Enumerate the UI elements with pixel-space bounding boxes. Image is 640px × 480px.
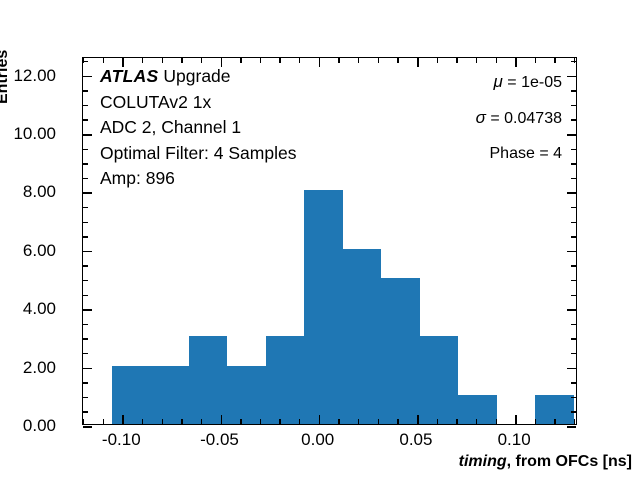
sigma-symbol: σ [476,108,486,127]
tick-mark [83,192,92,194]
tick-mark [83,338,88,339]
annotation-line-1: ATLAS Upgrade [100,64,296,90]
tick-mark [162,58,163,63]
histogram-bar [420,336,459,424]
tick-mark [535,419,536,424]
histogram-bar [304,190,343,424]
stat-phase: Phase = 4 [300,136,562,171]
tick-mark [83,236,88,237]
tick-mark [260,419,261,424]
annotation-line-2: COLUTAv2 1x [100,90,296,116]
tick-mark [83,397,88,398]
tick-mark [358,419,359,424]
tick-mark [83,149,88,150]
tick-mark [83,163,88,164]
histogram-bar [266,336,305,424]
tick-mark [181,419,182,424]
tick-mark [83,105,88,106]
tick-mark [496,58,497,63]
tick-mark [571,149,576,150]
tick-mark [83,324,88,325]
tick-mark [571,338,576,339]
annotation-line-5: Amp: 896 [100,166,296,192]
tick-mark [476,58,477,63]
x-tick-label: 0.10 [474,430,554,450]
histogram-bar [381,278,420,424]
tick-mark [571,411,576,412]
tick-mark [83,309,92,311]
tick-mark [567,192,576,194]
stat-sigma: σ = 0.04738 [300,100,562,136]
tick-mark [571,222,576,223]
y-tick-label: 0.00 [0,416,56,436]
tick-mark [456,419,457,424]
y-tick-label: 8.00 [0,182,56,202]
tick-mark [240,58,241,63]
histogram-bar [112,366,151,424]
tick-mark [83,295,88,296]
histogram-bar [150,366,189,424]
tick-mark [571,236,576,237]
tick-mark [571,324,576,325]
tick-mark [83,280,88,281]
tick-mark [571,295,576,296]
annotation-line-4: Optimal Filter: 4 Samples [100,141,296,167]
tick-mark [571,119,576,120]
y-tick-label: 10.00 [0,124,56,144]
tick-mark [567,76,576,78]
tick-mark [83,222,88,223]
stats-block: μ = 1e-05 σ = 0.04738 Phase = 4 [300,64,562,171]
tick-mark [571,382,576,383]
tick-mark [571,397,576,398]
tick-mark [240,419,241,424]
tick-mark [299,419,300,424]
sigma-value: = 0.04738 [486,110,562,127]
tick-mark [142,58,143,63]
x-axis-title-rest: , from OFCs [ns] [507,453,632,470]
tick-mark [83,265,88,266]
tick-mark [142,419,143,424]
tick-mark [260,58,261,63]
mu-value: = 1e-05 [503,74,562,91]
tick-mark [299,58,300,63]
tick-mark [567,251,576,253]
tick-mark [181,58,182,63]
histogram-bar [458,395,497,424]
tick-mark [122,415,124,424]
tick-mark [567,309,576,311]
tick-mark [397,419,398,424]
tick-mark [567,426,576,428]
tick-mark [103,58,104,63]
tick-mark [571,105,576,106]
tick-mark [162,419,163,424]
tick-mark [456,58,457,63]
tick-mark [567,368,576,370]
x-tick-label: -0.05 [180,430,260,450]
tick-mark [574,58,575,63]
tick-mark [83,382,88,383]
tick-mark [201,419,202,424]
tick-mark [83,134,92,136]
y-tick-label: 4.00 [0,299,56,319]
tick-mark [221,415,223,424]
tick-mark [83,368,92,370]
tick-mark [437,58,438,63]
y-tick-label: 6.00 [0,241,56,261]
tick-mark [535,58,536,63]
atlas-label: ATLAS [100,66,159,86]
x-tick-label: 0.05 [376,430,456,450]
tick-mark [83,251,92,253]
tick-mark [554,58,555,63]
tick-mark [338,419,339,424]
x-axis-title: timing, from OFCs [ns] [0,453,632,471]
tick-mark [476,419,477,424]
tick-mark [83,178,88,179]
tick-mark [83,207,88,208]
tick-mark [338,58,339,63]
upgrade-label: Upgrade [159,66,231,86]
tick-mark [83,419,84,424]
tick-mark [83,58,84,63]
tick-mark [103,419,104,424]
tick-mark [83,353,88,354]
histogram-bar [343,249,382,424]
tick-mark [571,280,576,281]
tick-mark [574,419,575,424]
stat-mu: μ = 1e-05 [300,64,562,100]
tick-mark [279,58,280,63]
tick-mark [279,419,280,424]
tick-mark [397,58,398,63]
tick-mark [201,58,202,63]
tick-mark [496,419,497,424]
tick-mark [571,163,576,164]
annotation-line-3: ADC 2, Channel 1 [100,115,296,141]
tick-mark [571,178,576,179]
x-tick-label: -0.10 [81,430,161,450]
tick-mark [571,353,576,354]
annotation-block: ATLAS Upgrade COLUTAv2 1x ADC 2, Channel… [100,64,296,192]
chart-page: Entries timing, from OFCs [ns] 0.002.004… [0,0,640,480]
tick-mark [83,426,92,428]
tick-mark [83,76,92,78]
x-tick-label: 0.00 [278,430,358,450]
tick-mark [83,411,88,412]
histogram-bar [227,366,266,424]
tick-mark [571,207,576,208]
tick-mark [515,415,517,424]
tick-mark [378,58,379,63]
tick-mark [378,419,379,424]
mu-symbol: μ [494,72,503,91]
tick-mark [571,90,576,91]
y-tick-label: 12.00 [0,66,56,86]
tick-mark [571,265,576,266]
tick-mark [358,58,359,63]
y-tick-label: 2.00 [0,358,56,378]
x-axis-title-italic: timing [459,453,507,470]
histogram-bar [189,336,228,424]
tick-mark [567,134,576,136]
tick-mark [554,419,555,424]
tick-mark [417,415,419,424]
tick-mark [83,119,88,120]
tick-mark [83,90,88,91]
tick-mark [437,419,438,424]
tick-mark [319,415,321,424]
